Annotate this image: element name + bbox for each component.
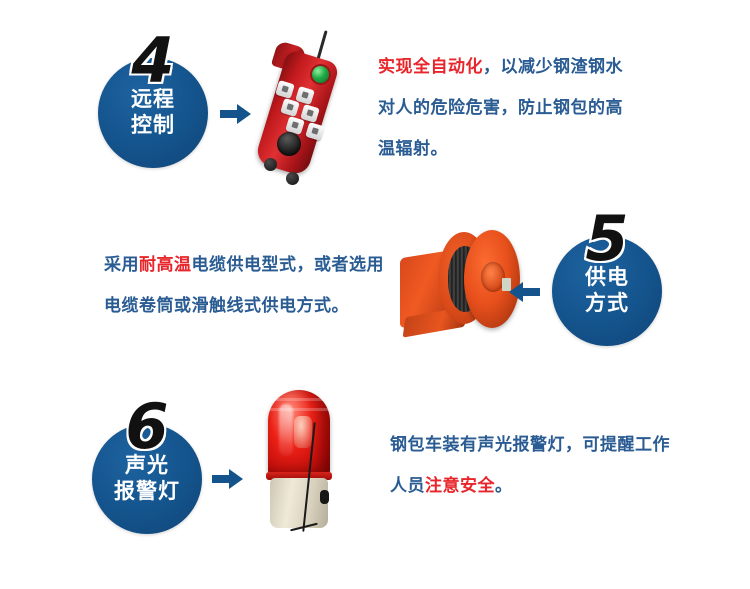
desc-line: 钢包车装有声光报警灯，可提醒工作 — [390, 424, 710, 465]
beacon-rib — [268, 408, 330, 411]
badge-6[interactable]: 6 声光 报警灯 — [92, 402, 204, 534]
badge-label-line-2: 控制 — [131, 113, 175, 139]
feature-row-alarm-lamp: 6 声光 报警灯 钢包车装有声光报警灯，可提醒工作 人员注意 — [0, 382, 750, 572]
infographic-canvas: 4 远程 控制 实现全自动化，以减 — [0, 0, 750, 589]
description-remote-control: 实现全自动化，以减少钢渣钢水 对人的危险危害，防止钢包的高 温辐射。 — [378, 46, 678, 169]
desc-line: 人员注意安全。 — [390, 465, 710, 506]
beacon-red-dome — [268, 390, 330, 476]
description-power-supply: 采用耐高温电缆供电型式，或者选用 电缆卷筒或滑触线式供电方式。 — [104, 244, 424, 326]
alarm-beacon-photo — [248, 386, 358, 536]
desc-line: 对人的危险危害，防止钢包的高 — [378, 87, 678, 128]
desc-text: 。 — [495, 476, 513, 495]
badge-4[interactable]: 4 远程 控制 — [98, 36, 210, 168]
desc-text: 电缆供电型式，或者选用 — [192, 255, 385, 274]
badge-number-6: 6 — [92, 396, 202, 458]
desc-text: ，以减少钢渣钢水 — [483, 57, 623, 76]
beacon-bulb — [294, 416, 312, 448]
desc-text: 人员 — [390, 476, 425, 495]
beacon-rib — [268, 398, 330, 401]
badge-label-line-2: 报警灯 — [114, 479, 180, 505]
remote-control-photo — [232, 36, 362, 186]
desc-highlight: 实现全自动化 — [378, 57, 483, 76]
desc-highlight: 耐高温 — [139, 255, 192, 274]
desc-highlight: 注意安全 — [425, 476, 495, 495]
remote-foot — [264, 158, 277, 171]
badge-label-line-2: 方式 — [585, 291, 629, 317]
badge-number-5: 5 — [552, 208, 662, 270]
desc-line: 实现全自动化，以减少钢渣钢水 — [378, 46, 678, 87]
beacon-base — [270, 478, 328, 528]
badge-number-4: 4 — [98, 30, 208, 92]
desc-line: 温辐射。 — [378, 128, 678, 169]
desc-text: 采用 — [104, 255, 139, 274]
description-alarm-lamp: 钢包车装有声光报警灯，可提醒工作 人员注意安全。 — [390, 424, 710, 506]
feature-row-power-supply: 采用耐高温电缆供电型式，或者选用 电缆卷筒或滑触线式供电方式。 5 供电 方式 — [0, 196, 750, 386]
remote-power-button — [310, 64, 331, 85]
feature-row-remote-control: 4 远程 控制 实现全自动化，以减 — [0, 0, 750, 190]
badge-5[interactable]: 5 供电 方式 — [552, 214, 664, 346]
remote-foot — [286, 172, 299, 185]
arrow-right-icon — [212, 466, 244, 492]
desc-line: 采用耐高温电缆供电型式，或者选用 — [104, 244, 424, 285]
desc-line: 电缆卷筒或滑触线式供电方式。 — [104, 285, 424, 326]
beacon-cable-clip — [320, 490, 329, 504]
arrow-left-icon — [508, 279, 540, 305]
